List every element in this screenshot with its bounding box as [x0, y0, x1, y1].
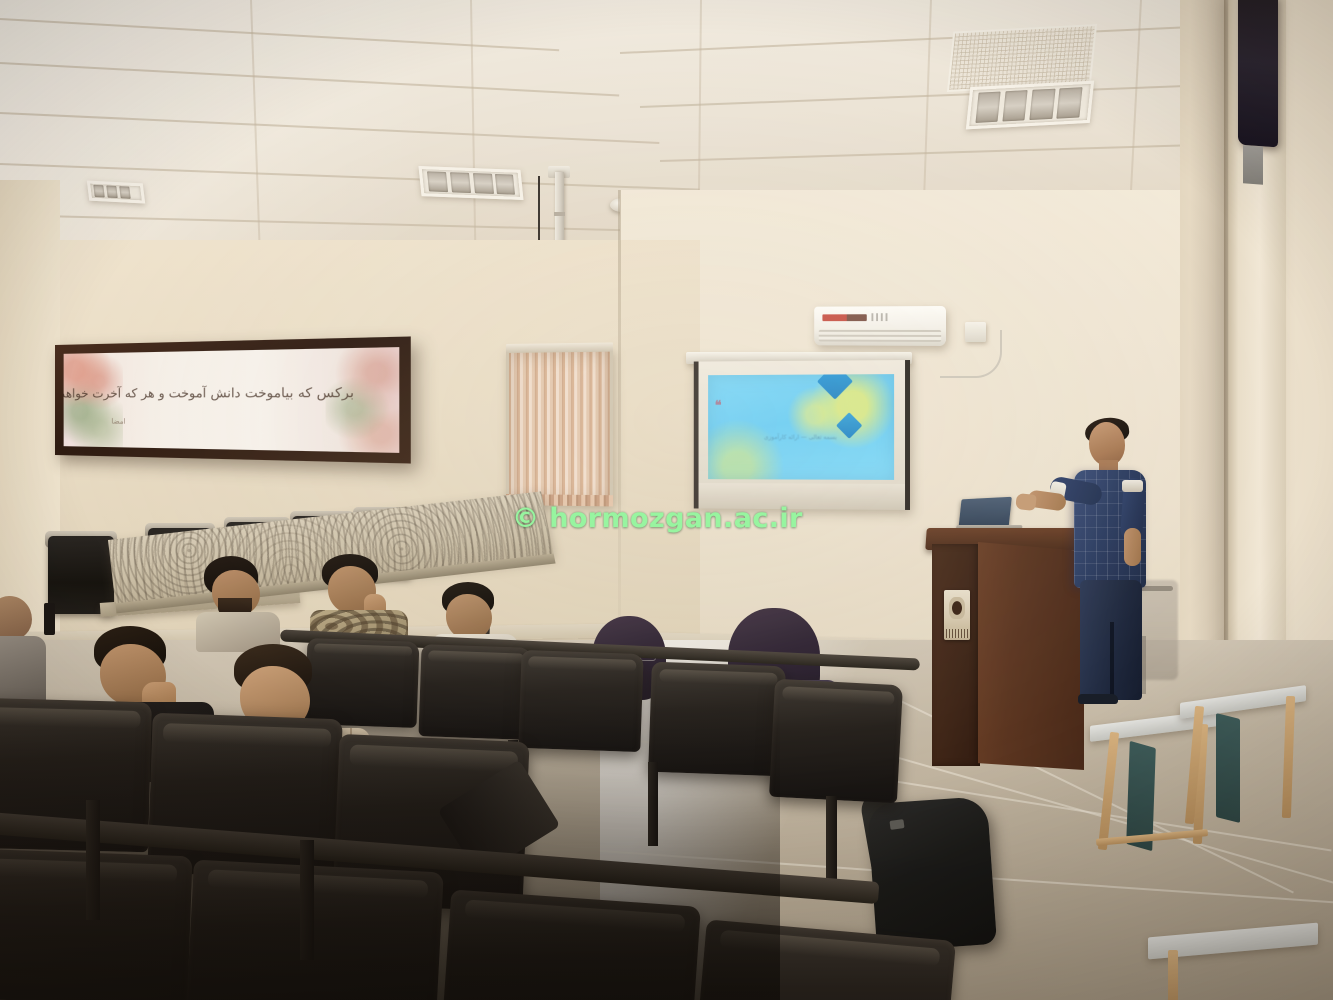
- presenter-left-hand: [1015, 493, 1037, 511]
- screen-rail-right: [905, 360, 910, 510]
- desk-modesty-panel: [1216, 713, 1240, 823]
- vertical-blinds[interactable]: [509, 352, 610, 504]
- wall-mounted-panel: [1238, 0, 1278, 147]
- audience-seat[interactable]: [769, 679, 903, 804]
- audience-seat[interactable]: [648, 662, 786, 777]
- presenter-shoe: [1078, 694, 1118, 704]
- projector-screen[interactable]: ❝ بسمه تعالی — ارائه کارآموزی: [694, 360, 910, 510]
- crest-fringe: [946, 629, 968, 638]
- lectern[interactable]: [932, 528, 1082, 768]
- air-vent-center: [419, 166, 524, 200]
- lecture-hall-photo: برکس که بیاموخت دانش آموخت و هر که آخرت …: [0, 0, 1333, 1000]
- air-vent-right: [966, 81, 1094, 130]
- desk-leg: [1282, 696, 1295, 818]
- seat-leg: [86, 800, 100, 920]
- audience-seat[interactable]: [418, 644, 531, 740]
- slide-body-text: بسمه تعالی — ارائه کارآموزی: [726, 433, 875, 442]
- audience-seat[interactable]: [518, 650, 643, 752]
- presenter-right-cuff: [1122, 480, 1143, 492]
- audience-seat[interactable]: [186, 860, 444, 1000]
- projected-slide: ❝ بسمه تعالی — ارائه کارآموزی: [708, 374, 894, 480]
- air-vent-far-left: [87, 180, 145, 203]
- ac-display-icon: [871, 313, 888, 321]
- backpack[interactable]: [867, 796, 997, 952]
- window: [506, 349, 613, 507]
- blinds-headrail: [506, 342, 613, 353]
- university-crest-plaque: [944, 590, 970, 640]
- attendee-head: [0, 596, 32, 640]
- calligraphy-signature: امضا: [111, 417, 125, 425]
- wall-outlet: [965, 322, 986, 342]
- wall-corner-seam: [618, 190, 621, 660]
- calligraphy-mat: برکس که بیاموخت دانش آموخت و هر که آخرت …: [64, 347, 400, 453]
- student-desk[interactable]: [1148, 930, 1318, 1000]
- watermark: © hormozgan.ac.ir: [512, 503, 803, 534]
- presenter-leg-gap: [1110, 622, 1114, 700]
- ac-louvers: [819, 330, 941, 342]
- student-desk[interactable]: [1180, 694, 1306, 824]
- lectern-side-panel: [932, 544, 980, 766]
- presenter: [1066, 422, 1176, 702]
- seat-leg: [300, 840, 314, 960]
- air-conditioner: [814, 306, 946, 346]
- desk-leg: [1168, 950, 1178, 1000]
- seat-leg: [826, 796, 837, 888]
- backpack-buckle: [889, 819, 904, 830]
- slide-quote-mark: ❝: [715, 399, 721, 414]
- seat-leg: [648, 762, 658, 846]
- desk-leg: [1098, 732, 1119, 850]
- ac-brand-label: [822, 314, 866, 321]
- framed-calligraphy: برکس که بیاموخت دانش آموخت و هر که آخرت …: [55, 336, 411, 463]
- attendee-mid-left: [196, 556, 280, 646]
- wall-panel-bracket: [1243, 145, 1263, 184]
- audience-seat[interactable]: [441, 889, 701, 1000]
- calligraphy-text: برکس که بیاموخت دانش آموخت و هر که آخرت …: [99, 385, 354, 402]
- slide-diamond-shape: [817, 374, 853, 400]
- presenter-right-forearm: [1124, 528, 1141, 566]
- crest-emblem-icon: [949, 597, 965, 619]
- desk-leg: [1185, 706, 1204, 824]
